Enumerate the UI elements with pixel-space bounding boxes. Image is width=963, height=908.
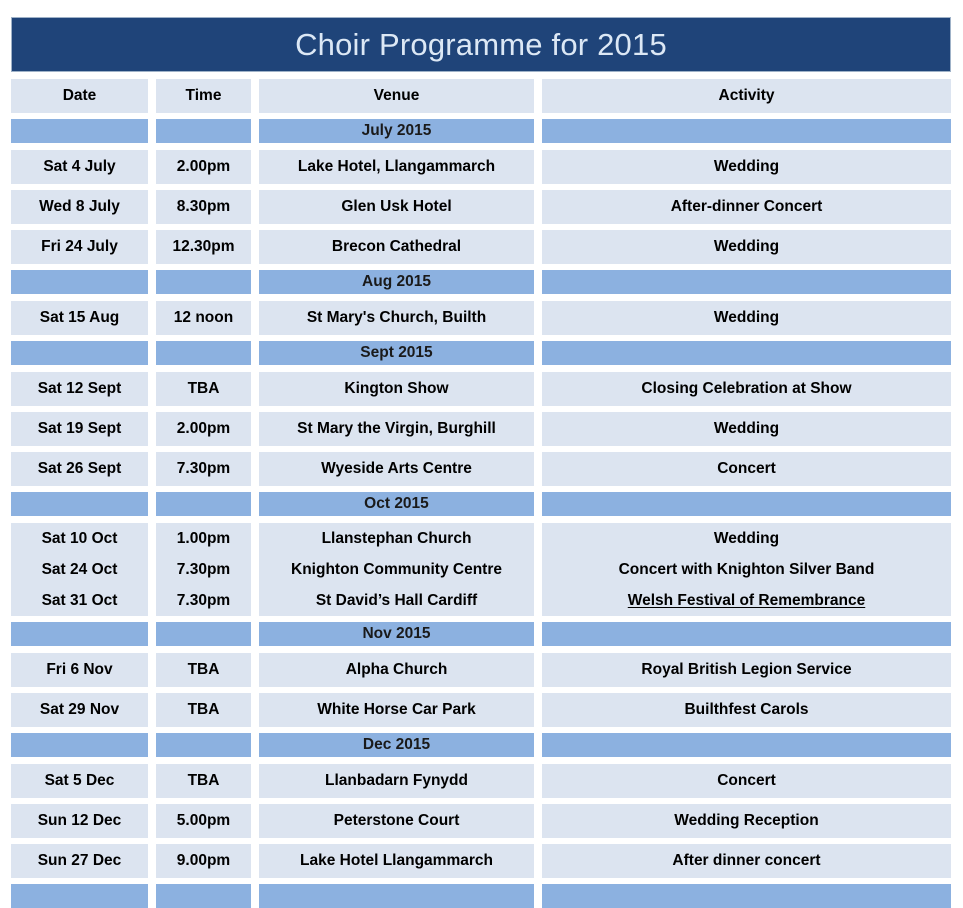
cell-time: 9.00pm <box>156 844 251 878</box>
cell-time-text: 12 noon <box>174 309 233 327</box>
cell-activity: Wedding <box>542 150 951 184</box>
table-row: Sun 27 Dec9.00pmLake Hotel LlangammarchA… <box>11 844 951 878</box>
cell-activity: Concert <box>542 764 951 798</box>
cell-time: 2.00pm <box>156 412 251 446</box>
cell-activity-text: Wedding <box>714 309 779 327</box>
cell-time-text: 12.30pm <box>172 238 234 256</box>
month-header-row: Dec 2015 <box>11 733 951 757</box>
month-spacer-date <box>11 622 148 646</box>
cell-activity-text: Concert <box>717 772 776 790</box>
cell-time-text: 2.00pm <box>177 158 230 176</box>
cell-time-text: 7.30pm <box>177 561 230 579</box>
cell-activity-text: Wedding <box>714 420 779 438</box>
cell-venue: White Horse Car Park <box>259 693 534 727</box>
table-row: Sat 31 Oct7.30pmSt David’s Hall CardiffW… <box>11 585 951 616</box>
month-header-row: Oct 2015 <box>11 492 951 516</box>
cell-date-text: Fri 24 July <box>41 238 118 256</box>
cell-activity: After-dinner Concert <box>542 190 951 224</box>
cell-activity-text: Builthfest Carols <box>684 701 808 719</box>
month-label: Sept 2015 <box>259 341 534 365</box>
cell-time: 8.30pm <box>156 190 251 224</box>
cell-venue-text: Alpha Church <box>346 661 448 679</box>
cell-date: Wed 8 July <box>11 190 148 224</box>
table-row: Wed 8 July8.30pmGlen Usk HotelAfter-dinn… <box>11 190 951 224</box>
cell-venue-text: Glen Usk Hotel <box>341 198 451 216</box>
cell-venue: Kington Show <box>259 372 534 406</box>
table-row: Sat 5 DecTBALlanbadarn FynyddConcert <box>11 764 951 798</box>
cell-venue: St David’s Hall Cardiff <box>259 585 534 616</box>
cell-date: Sat 19 Sept <box>11 412 148 446</box>
cell-time-text: 9.00pm <box>177 852 230 870</box>
month-spacer-activity <box>542 270 951 294</box>
cell-venue-text: Llanbadarn Fynydd <box>325 772 468 790</box>
cell-time-text: 2.00pm <box>177 420 230 438</box>
cell-activity: Royal British Legion Service <box>542 653 951 687</box>
cell-venue-text: Llanstephan Church <box>322 530 472 548</box>
cell-time: 2.00pm <box>156 150 251 184</box>
table-row: Sat 19 Sept2.00pmSt Mary the Virgin, Bur… <box>11 412 951 446</box>
cell-venue-text: St Mary's Church, Builth <box>307 309 486 327</box>
cell-date-text: Sat 24 Oct <box>42 561 118 579</box>
month-spacer-time <box>156 341 251 365</box>
cell-time: TBA <box>156 653 251 687</box>
table-footer-row <box>11 884 951 908</box>
cell-venue: Alpha Church <box>259 653 534 687</box>
cell-date-text: Sat 12 Sept <box>38 380 122 398</box>
cell-activity: Concert with Knighton Silver Band <box>542 554 951 585</box>
cell-date-text: Sat 15 Aug <box>40 309 120 327</box>
month-label-text: Dec 2015 <box>363 736 430 754</box>
cell-venue: Llanstephan Church <box>259 523 534 554</box>
cell-date-text: Fri 6 Nov <box>46 661 112 679</box>
cell-activity: Closing Celebration at Show <box>542 372 951 406</box>
cell-time: TBA <box>156 764 251 798</box>
cell-date-text: Sun 12 Dec <box>38 812 122 830</box>
month-spacer-activity <box>542 733 951 757</box>
cell-activity-text: After dinner concert <box>672 852 820 870</box>
cell-time: 12 noon <box>156 301 251 335</box>
footer-cell-time <box>156 884 251 908</box>
cell-time-text: 5.00pm <box>177 812 230 830</box>
table-row: Sat 26 Sept7.30pmWyeside Arts CentreConc… <box>11 452 951 486</box>
column-header-time: Time <box>156 79 251 113</box>
cell-date-text: Sat 26 Sept <box>38 460 122 478</box>
cell-venue: Brecon Cathedral <box>259 230 534 264</box>
month-spacer-activity <box>542 119 951 143</box>
cell-venue: Llanbadarn Fynydd <box>259 764 534 798</box>
cell-activity: Wedding <box>542 230 951 264</box>
month-label-text: July 2015 <box>362 122 432 140</box>
cell-venue-text: White Horse Car Park <box>317 701 476 719</box>
cell-time: 7.30pm <box>156 585 251 616</box>
cell-time: 7.30pm <box>156 554 251 585</box>
cell-date: Sat 12 Sept <box>11 372 148 406</box>
cell-venue: Lake Hotel Llangammarch <box>259 844 534 878</box>
month-spacer-time <box>156 622 251 646</box>
month-header-row: July 2015 <box>11 119 951 143</box>
cell-activity-text: After-dinner Concert <box>671 198 823 216</box>
cell-date: Fri 24 July <box>11 230 148 264</box>
month-label: Dec 2015 <box>259 733 534 757</box>
cell-time-text: TBA <box>188 380 220 398</box>
month-label: July 2015 <box>259 119 534 143</box>
cell-date-text: Sat 29 Nov <box>40 701 119 719</box>
cell-time-text: TBA <box>188 772 220 790</box>
month-spacer-date <box>11 492 148 516</box>
month-header-row: Sept 2015 <box>11 341 951 365</box>
month-label-text: Aug 2015 <box>362 273 431 291</box>
cell-venue-text: Peterstone Court <box>334 812 460 830</box>
cell-time: 7.30pm <box>156 452 251 486</box>
footer-cell-venue <box>259 884 534 908</box>
cell-time-text: TBA <box>188 701 220 719</box>
month-spacer-date <box>11 119 148 143</box>
page-title: Choir Programme for 2015 <box>295 29 667 60</box>
cell-activity-text: Wedding <box>714 530 779 548</box>
cell-date: Sun 12 Dec <box>11 804 148 838</box>
month-header-row: Aug 2015 <box>11 270 951 294</box>
month-spacer-date <box>11 733 148 757</box>
cell-date: Sat 26 Sept <box>11 452 148 486</box>
cell-venue: Lake Hotel, Llangammarch <box>259 150 534 184</box>
month-spacer-time <box>156 119 251 143</box>
cell-date-text: Wed 8 July <box>39 198 120 216</box>
cell-date: Sat 29 Nov <box>11 693 148 727</box>
cell-time: TBA <box>156 372 251 406</box>
table-row: Sat 15 Aug12 noonSt Mary's Church, Built… <box>11 301 951 335</box>
table-row: Sat 24 Oct7.30pmKnighton Community Centr… <box>11 554 951 585</box>
month-label-text: Sept 2015 <box>360 344 432 362</box>
cell-date-text: Sat 19 Sept <box>38 420 122 438</box>
cell-date: Sat 31 Oct <box>11 585 148 616</box>
cell-venue-text: Lake Hotel, Llangammarch <box>298 158 495 176</box>
cell-date: Sun 27 Dec <box>11 844 148 878</box>
cell-venue-text: Wyeside Arts Centre <box>321 460 472 478</box>
month-label: Aug 2015 <box>259 270 534 294</box>
cell-activity-text: Wedding <box>714 238 779 256</box>
cell-venue: Wyeside Arts Centre <box>259 452 534 486</box>
cell-activity: Wedding <box>542 523 951 554</box>
cell-activity-text: Concert <box>717 460 776 478</box>
table-header-row: Date Time Venue Activity <box>11 79 951 113</box>
cell-date: Sat 24 Oct <box>11 554 148 585</box>
cell-venue: Peterstone Court <box>259 804 534 838</box>
month-spacer-time <box>156 733 251 757</box>
choir-programme-table: Choir Programme for 2015 Date Time Venue… <box>11 17 951 908</box>
table-row: Sat 10 Oct1.00pmLlanstephan ChurchWeddin… <box>11 523 951 554</box>
cell-activity-text: Closing Celebration at Show <box>641 380 851 398</box>
cell-activity: Builthfest Carols <box>542 693 951 727</box>
month-spacer-date <box>11 341 148 365</box>
month-label-text: Nov 2015 <box>362 625 430 643</box>
cell-date-text: Sat 31 Oct <box>42 592 118 610</box>
cell-activity: Concert <box>542 452 951 486</box>
cell-date: Fri 6 Nov <box>11 653 148 687</box>
column-header-venue: Venue <box>259 79 534 113</box>
cell-time: 12.30pm <box>156 230 251 264</box>
cell-date: Sat 15 Aug <box>11 301 148 335</box>
cell-time-text: 7.30pm <box>177 460 230 478</box>
cell-time-text: 8.30pm <box>177 198 230 216</box>
table-row: Fri 6 NovTBAAlpha ChurchRoyal British Le… <box>11 653 951 687</box>
cell-time: 1.00pm <box>156 523 251 554</box>
footer-cell-date <box>11 884 148 908</box>
table-row: Sat 4 July2.00pmLake Hotel, Llangammarch… <box>11 150 951 184</box>
cell-venue-text: St David’s Hall Cardiff <box>316 592 477 610</box>
cell-date: Sat 10 Oct <box>11 523 148 554</box>
cell-date: Sat 5 Dec <box>11 764 148 798</box>
table-row: Fri 24 July12.30pmBrecon CathedralWeddin… <box>11 230 951 264</box>
cell-time-text: 7.30pm <box>177 592 230 610</box>
month-spacer-time <box>156 492 251 516</box>
cell-activity: After dinner concert <box>542 844 951 878</box>
cell-venue: Glen Usk Hotel <box>259 190 534 224</box>
cell-activity-text: Wedding <box>714 158 779 176</box>
table-row: Sun 12 Dec5.00pmPeterstone CourtWedding … <box>11 804 951 838</box>
cell-activity: Wedding <box>542 412 951 446</box>
footer-cell-activity <box>542 884 951 908</box>
cell-venue-text: Brecon Cathedral <box>332 238 461 256</box>
table-body: July 2015Sat 4 July2.00pmLake Hotel, Lla… <box>11 119 951 908</box>
cell-activity-text: Royal British Legion Service <box>641 661 851 679</box>
table-row: Sat 29 NovTBAWhite Horse Car ParkBuilthf… <box>11 693 951 727</box>
cell-venue-text: Lake Hotel Llangammarch <box>300 852 493 870</box>
month-spacer-activity <box>542 622 951 646</box>
cell-time-text: TBA <box>188 661 220 679</box>
page-root: Choir Programme for 2015 Date Time Venue… <box>0 0 963 875</box>
cell-activity-text: Wedding Reception <box>674 812 818 830</box>
cell-venue-text: Kington Show <box>344 380 448 398</box>
cell-activity: Wedding <box>542 301 951 335</box>
cell-activity-text: Concert with Knighton Silver Band <box>619 561 875 579</box>
month-spacer-activity <box>542 341 951 365</box>
cell-date-text: Sat 5 Dec <box>45 772 115 790</box>
cell-venue-text: Knighton Community Centre <box>291 561 502 579</box>
cell-venue: St Mary the Virgin, Burghill <box>259 412 534 446</box>
month-header-row: Nov 2015 <box>11 622 951 646</box>
cell-date-text: Sun 27 Dec <box>38 852 122 870</box>
cell-activity-text[interactable]: Welsh Festival of Remembrance <box>628 592 865 610</box>
table-title-bar: Choir Programme for 2015 <box>11 17 951 72</box>
column-header-date: Date <box>11 79 148 113</box>
month-label: Oct 2015 <box>259 492 534 516</box>
cell-time: TBA <box>156 693 251 727</box>
cell-date-text: Sat 10 Oct <box>42 530 118 548</box>
cell-venue-text: St Mary the Virgin, Burghill <box>297 420 496 438</box>
cell-venue: St Mary's Church, Builth <box>259 301 534 335</box>
column-header-activity: Activity <box>542 79 951 113</box>
month-label: Nov 2015 <box>259 622 534 646</box>
cell-time: 5.00pm <box>156 804 251 838</box>
cell-activity: Welsh Festival of Remembrance <box>542 585 951 616</box>
cell-date: Sat 4 July <box>11 150 148 184</box>
month-label-text: Oct 2015 <box>364 495 429 513</box>
month-spacer-date <box>11 270 148 294</box>
month-spacer-time <box>156 270 251 294</box>
cell-time-text: 1.00pm <box>177 530 230 548</box>
table-row: Sat 12 SeptTBAKington ShowClosing Celebr… <box>11 372 951 406</box>
month-spacer-activity <box>542 492 951 516</box>
cell-date-text: Sat 4 July <box>43 158 115 176</box>
cell-activity: Wedding Reception <box>542 804 951 838</box>
cell-venue: Knighton Community Centre <box>259 554 534 585</box>
